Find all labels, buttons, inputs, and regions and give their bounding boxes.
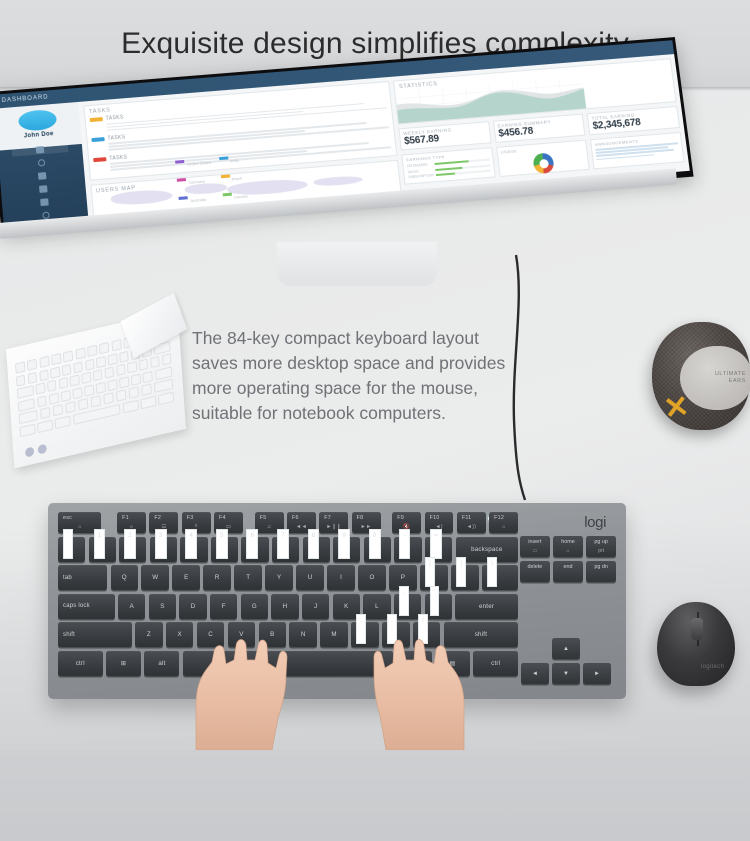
minus-key[interactable]: _- bbox=[394, 537, 421, 562]
ctrl-left-key[interactable]: ctrl bbox=[58, 651, 103, 676]
key-s[interactable]: S bbox=[149, 594, 176, 619]
end-key[interactable]: end bbox=[553, 561, 583, 582]
usage-donut-card: USAGE bbox=[496, 140, 590, 177]
product-marketing-image: Exquisite design simplifies complexity D… bbox=[0, 0, 750, 750]
keyboard-number-row: ~` !1 @2 #3 $4 %5 ^6 &7 *8 (9 )0 _- += b… bbox=[58, 537, 518, 562]
key-n[interactable]: N bbox=[289, 622, 316, 647]
alt-left-key[interactable]: alt bbox=[144, 651, 179, 676]
key-2[interactable]: @2 bbox=[119, 537, 146, 562]
shift-right-key[interactable]: shift bbox=[444, 622, 518, 647]
key-z[interactable]: Z bbox=[135, 622, 162, 647]
sidebar-menu bbox=[0, 142, 88, 223]
page-down-key[interactable]: pg dn bbox=[586, 561, 616, 582]
key-w[interactable]: W bbox=[141, 565, 169, 590]
task-badge bbox=[90, 117, 103, 122]
map-legend: United States Germany Australia India Br… bbox=[175, 148, 248, 208]
key-7[interactable]: &7 bbox=[272, 537, 299, 562]
key-8[interactable]: *8 bbox=[303, 537, 330, 562]
backtick-key[interactable]: ~` bbox=[58, 537, 85, 562]
key-9[interactable]: (9 bbox=[333, 537, 360, 562]
comma-key[interactable]: <, bbox=[351, 622, 378, 647]
sidebar-user-name: John Doe bbox=[0, 129, 81, 142]
key-a[interactable]: A bbox=[118, 594, 145, 619]
map-region bbox=[313, 175, 363, 187]
legend-label: India bbox=[230, 158, 239, 164]
key-u[interactable]: U bbox=[296, 565, 324, 590]
nav-row-top: insert▭ home⌂ pg upprt bbox=[520, 536, 616, 557]
arrow-right-key[interactable]: ► bbox=[583, 663, 611, 684]
kpi-card: EARNING SUMMARY $456.78 bbox=[493, 114, 586, 143]
key-3[interactable]: #3 bbox=[150, 537, 177, 562]
clock-icon bbox=[37, 159, 45, 167]
avatar bbox=[18, 109, 58, 132]
key-0[interactable]: )0 bbox=[364, 537, 391, 562]
sidebar-item-folder[interactable] bbox=[15, 182, 72, 196]
key-o[interactable]: O bbox=[358, 565, 386, 590]
folder-icon bbox=[39, 185, 48, 193]
ctrl-right-key[interactable]: ctrl bbox=[473, 651, 518, 676]
slash-key[interactable]: ?/ bbox=[413, 622, 440, 647]
earnings-type-card: EARNINGS TYPE ON DEMAND SALES bbox=[402, 147, 496, 185]
quote-key[interactable]: "' bbox=[425, 594, 452, 619]
key-j[interactable]: J bbox=[302, 594, 329, 619]
keyboard-bottom-row: ctrl ⊞ alt alt ▤ ctrl bbox=[58, 651, 518, 676]
key-d[interactable]: D bbox=[179, 594, 206, 619]
key-y[interactable]: Y bbox=[265, 565, 293, 590]
sidebar-item-dashboard[interactable] bbox=[12, 143, 69, 157]
windows-key[interactable]: ⊞ bbox=[106, 651, 141, 676]
period-key[interactable]: >. bbox=[382, 622, 409, 647]
key-f[interactable]: F bbox=[210, 594, 237, 619]
mouse-body: logitech bbox=[657, 602, 735, 686]
keyboard-nav-cluster: insert▭ home⌂ pg upprt delete end pg dn bbox=[520, 536, 616, 585]
key-g[interactable]: G bbox=[241, 594, 268, 619]
kpi-card: WEEKLY EARNING $567.89 bbox=[399, 121, 492, 150]
mouse-scroll-wheel bbox=[691, 618, 703, 640]
dashboard-title: DASHBOARD bbox=[2, 94, 49, 104]
delete-key[interactable]: delete bbox=[520, 561, 550, 582]
arrow-left-key[interactable]: ◄ bbox=[521, 663, 549, 684]
keyboard-shift-row: shift Z X C V B N M <, >. ?/ shift bbox=[58, 622, 518, 647]
sidebar-item-charts[interactable] bbox=[14, 169, 71, 183]
sidebar-item-cloud[interactable] bbox=[16, 195, 73, 209]
speaker-x-mark: ✕ bbox=[662, 392, 698, 424]
key-6[interactable]: ^6 bbox=[241, 537, 268, 562]
f11-key[interactable]: F11◄)) bbox=[457, 512, 486, 533]
enter-key[interactable]: enter bbox=[455, 594, 518, 619]
menu-key[interactable]: ▤ bbox=[435, 651, 470, 676]
f12-key[interactable]: F12⌂ bbox=[489, 512, 518, 533]
home-key[interactable]: home⌂ bbox=[553, 536, 583, 557]
tkl-keyboard: ⌂ ⌂ logi esc ⌂ F1☼ F2☲ F3⌕ F4▭ F5♫ F6◄◄ … bbox=[48, 503, 626, 699]
caps-lock-key[interactable]: caps lock bbox=[58, 594, 115, 619]
dashboard-sidebar: John Doe bbox=[0, 102, 88, 226]
shift-left-key[interactable]: shift bbox=[58, 622, 132, 647]
key-e[interactable]: E bbox=[172, 565, 200, 590]
task-badge bbox=[93, 157, 106, 162]
key-q[interactable]: Q bbox=[111, 565, 139, 590]
kpi-card: TOTAL EARNING $2,345,678 bbox=[587, 106, 680, 135]
bracket-right-key[interactable]: }] bbox=[451, 565, 479, 590]
key-c[interactable]: C bbox=[197, 622, 224, 647]
sidebar-item-clock[interactable] bbox=[13, 156, 70, 170]
key-h[interactable]: H bbox=[271, 594, 298, 619]
monitor-stand bbox=[277, 242, 437, 286]
backslash-key[interactable]: |\ bbox=[482, 565, 518, 590]
nav-row-bottom: delete end pg dn bbox=[520, 561, 616, 582]
speaker-brand-line2: EARS bbox=[715, 378, 746, 385]
desktop-monitor: DASHBOARD John Doe bbox=[0, 92, 690, 242]
spacebar-key[interactable] bbox=[183, 651, 393, 676]
key-i[interactable]: I bbox=[327, 565, 355, 590]
mouse-brand: logitech bbox=[701, 664, 724, 670]
legend-label: United States bbox=[187, 160, 212, 167]
key-b[interactable]: B bbox=[259, 622, 286, 647]
speaker-brand-line1: ULTIMATE bbox=[715, 371, 746, 378]
logitech-logo: logi bbox=[584, 514, 606, 531]
task-badge bbox=[91, 137, 104, 142]
legend-label: Germany bbox=[188, 179, 205, 185]
key-t[interactable]: T bbox=[234, 565, 262, 590]
donut-chart bbox=[532, 152, 554, 174]
keyboard-home-row: caps lock A S D F G H J K L :; "' enter bbox=[58, 594, 518, 619]
insert-key[interactable]: insert▭ bbox=[520, 536, 550, 557]
page-up-key[interactable]: pg upprt bbox=[586, 536, 616, 557]
key-x[interactable]: X bbox=[166, 622, 193, 647]
key-m[interactable]: M bbox=[320, 622, 347, 647]
legend-label: Brazil bbox=[232, 176, 243, 182]
legend-label: Australia bbox=[190, 197, 206, 203]
cloud-icon bbox=[40, 198, 49, 206]
chart-icon bbox=[38, 172, 47, 180]
arrow-up-key[interactable]: ▲ bbox=[552, 638, 580, 659]
arrow-key-cluster: ▲ ◄ ▼ ► bbox=[521, 638, 613, 688]
keyboard-keys-area: ⌂ ⌂ logi esc ⌂ F1☼ F2☲ F3⌕ F4▭ F5♫ F6◄◄ … bbox=[58, 512, 616, 691]
speaker-brand: ULTIMATE EARS bbox=[715, 371, 746, 385]
key-5[interactable]: %5 bbox=[211, 537, 238, 562]
wireless-mouse: logitech bbox=[653, 596, 745, 692]
dashboard-icon bbox=[36, 146, 45, 154]
bluetooth-speaker: ULTIMATE EARS ✕ bbox=[652, 322, 750, 430]
alt-right-key[interactable]: alt bbox=[397, 651, 432, 676]
key-4[interactable]: $4 bbox=[180, 537, 207, 562]
key-r[interactable]: R bbox=[203, 565, 231, 590]
key-v[interactable]: V bbox=[228, 622, 255, 647]
feature-description: The 84-key compact keyboard layout saves… bbox=[192, 326, 508, 426]
legend-label: Canada bbox=[233, 193, 248, 199]
tab-key[interactable]: tab bbox=[58, 565, 107, 590]
arrow-down-key[interactable]: ▼ bbox=[552, 663, 580, 684]
bar-label: SUBSCRIPTION bbox=[408, 173, 434, 179]
keyboard-qwerty-row: tab Q W E R T Y U I O P {[ }] |\ bbox=[58, 565, 518, 590]
key-1[interactable]: !1 bbox=[89, 537, 116, 562]
announcements-card: ANNOUNCEMENTS bbox=[590, 132, 684, 169]
